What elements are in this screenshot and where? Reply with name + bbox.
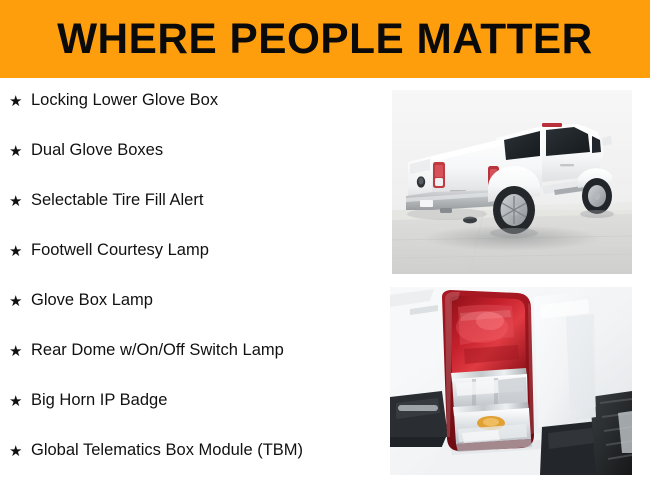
list-item-label: Glove Box Lamp: [31, 290, 382, 311]
list-item-label: Selectable Tire Fill Alert: [31, 190, 382, 211]
content-area: ★ Locking Lower Glove Box ★ Dual Glove B…: [0, 78, 650, 488]
star-bullet-icon: ★: [9, 340, 31, 362]
star-bullet-icon: ★: [9, 390, 31, 412]
feature-list: ★ Locking Lower Glove Box ★ Dual Glove B…: [0, 90, 382, 490]
list-item-label: Global Telematics Box Module (TBM): [31, 440, 382, 461]
list-item: ★ Global Telematics Box Module (TBM): [0, 440, 382, 490]
list-item: ★ Locking Lower Glove Box: [0, 90, 382, 140]
truck-rear-three-quarter-photo: [392, 90, 632, 274]
list-item: ★ Dual Glove Boxes: [0, 140, 382, 190]
star-bullet-icon: ★: [9, 290, 31, 312]
star-bullet-icon: ★: [9, 90, 31, 112]
list-item: ★ Selectable Tire Fill Alert: [0, 190, 382, 240]
star-bullet-icon: ★: [9, 190, 31, 212]
header-banner: WHERE PEOPLE MATTER: [0, 0, 650, 78]
list-item-label: Locking Lower Glove Box: [31, 90, 382, 111]
list-item: ★ Footwell Courtesy Lamp: [0, 240, 382, 290]
list-item: ★ Big Horn IP Badge: [0, 390, 382, 440]
page-title: WHERE PEOPLE MATTER: [57, 16, 593, 62]
star-bullet-icon: ★: [9, 440, 31, 462]
star-bullet-icon: ★: [9, 240, 31, 262]
star-bullet-icon: ★: [9, 140, 31, 162]
list-item-label: Footwell Courtesy Lamp: [31, 240, 382, 261]
list-item: ★ Rear Dome w/On/Off Switch Lamp: [0, 340, 382, 390]
tail-lamp-closeup-photo: [390, 287, 632, 475]
list-item: ★ Glove Box Lamp: [0, 290, 382, 340]
list-item-label: Dual Glove Boxes: [31, 140, 382, 161]
list-item-label: Big Horn IP Badge: [31, 390, 382, 411]
list-item-label: Rear Dome w/On/Off Switch Lamp: [31, 340, 382, 361]
